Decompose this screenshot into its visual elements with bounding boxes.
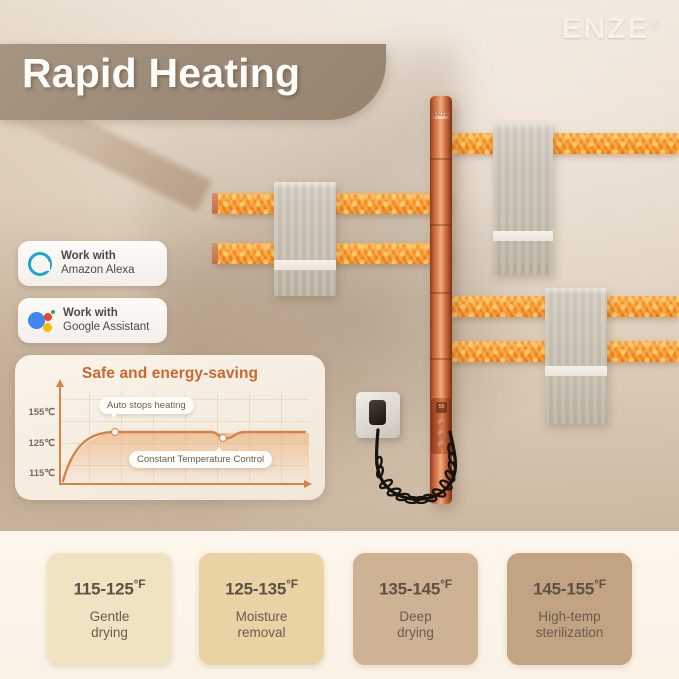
temp-value: 125-135 xyxy=(225,580,286,599)
gridline-h xyxy=(59,421,309,422)
towel-fold xyxy=(274,182,336,189)
cord-coils xyxy=(376,443,457,503)
callout-constant-temperature-control: Constant Temperature Control xyxy=(129,451,272,468)
chart-node-constant-temp xyxy=(219,434,227,442)
towel-right-lower xyxy=(545,288,607,424)
product-scene: ENZE 55 xyxy=(0,0,679,531)
google-assistant-icon xyxy=(28,309,54,333)
coiled-power-cord xyxy=(340,420,500,515)
towel-right-upper xyxy=(493,123,553,275)
pole-segment-line xyxy=(430,224,452,226)
temp-unit: °F xyxy=(594,577,606,591)
temp-card-range: 135-145°F xyxy=(379,577,452,600)
gridline-v xyxy=(89,391,90,485)
temp-card-description: High-tempsterilization xyxy=(536,609,604,641)
registered-mark: ® xyxy=(649,15,661,30)
temp-value: 115-125 xyxy=(74,580,134,599)
y-axis-arrow xyxy=(56,379,64,387)
gridline-h xyxy=(59,443,309,444)
gridline-v xyxy=(281,391,282,485)
ga-yellow-dot xyxy=(43,323,52,332)
temp-card-moisture-removal[interactable]: 125-135°F Moistureremoval xyxy=(199,553,324,665)
pole-segment-line xyxy=(430,158,452,160)
badge-text: Work with Amazon Alexa xyxy=(61,250,135,277)
temp-card-high-temp-sterilization[interactable]: 145-155°F High-tempsterilization xyxy=(507,553,632,665)
towel-fold xyxy=(545,288,607,295)
arm-cap-left-lower xyxy=(212,243,218,264)
cord-svg xyxy=(340,420,500,515)
page-title: Rapid Heating xyxy=(22,50,300,97)
ga-red-dot xyxy=(44,313,52,321)
temp-card-deep-drying[interactable]: 135-145°F Deepdrying xyxy=(353,553,478,665)
energy-saving-chart-card: Safe and energy-saving 155℃ 125℃ 115℃ xyxy=(15,355,325,500)
heating-arm-right-upper xyxy=(452,133,679,154)
brand-name: ENZE xyxy=(561,12,649,45)
callout-tail-auto-stop xyxy=(110,412,118,418)
temp-card-description: Gentledrying xyxy=(90,609,130,641)
temperature-display: 55 xyxy=(436,402,447,413)
badge-line2: Google Assistant xyxy=(63,321,149,334)
temp-value: 145-155 xyxy=(533,580,594,599)
callout-tail-constant-temp xyxy=(215,447,223,453)
arm-cap-left-upper xyxy=(212,193,218,214)
towel-fold xyxy=(493,123,553,130)
cord-core xyxy=(376,430,455,499)
temp-value: 135-145 xyxy=(379,580,440,599)
badge-text: Work with Google Assistant xyxy=(63,307,149,334)
chart-y-axis-labels: 155℃ 125℃ 115℃ xyxy=(15,355,55,500)
ga-green-dot xyxy=(51,310,55,314)
badge-line2: Amazon Alexa xyxy=(61,264,135,277)
towel-band xyxy=(493,231,553,241)
gridline-v xyxy=(217,391,218,485)
temp-card-gentle-drying[interactable]: 115-125°F Gentledrying xyxy=(47,553,172,665)
product-infographic: ENZE 55 xyxy=(0,0,679,679)
badge-google-assistant[interactable]: Work with Google Assistant xyxy=(18,298,167,343)
pole-segment-line xyxy=(430,292,452,294)
gridline-v xyxy=(249,391,250,485)
temp-card-description: Deepdrying xyxy=(397,609,434,641)
towel-band xyxy=(274,260,336,270)
brand-logo: ENZE® xyxy=(561,12,661,46)
badge-line1: Work with xyxy=(63,307,149,320)
temp-card-range: 125-135°F xyxy=(225,577,298,600)
chart-node-auto-stop xyxy=(111,428,119,436)
badge-line1: Work with xyxy=(61,250,135,263)
badge-amazon-alexa[interactable]: Work with Amazon Alexa xyxy=(18,241,167,286)
pole-segment-line xyxy=(430,358,452,360)
temp-card-range: 145-155°F xyxy=(533,577,606,600)
towel-left xyxy=(274,182,336,296)
towel-band xyxy=(545,366,607,376)
y-tick-2: 115℃ xyxy=(29,468,55,479)
temp-unit: °F xyxy=(286,577,298,591)
pole-brand-label: ENZE xyxy=(432,112,450,119)
temp-card-range: 115-125°F xyxy=(74,577,146,600)
temp-unit: °F xyxy=(440,577,452,591)
amazon-alexa-icon xyxy=(28,252,52,276)
temp-card-description: Moistureremoval xyxy=(236,609,288,641)
temp-unit: °F xyxy=(134,577,146,591)
y-tick-0: 155℃ xyxy=(28,407,55,418)
y-tick-1: 125℃ xyxy=(28,438,55,449)
